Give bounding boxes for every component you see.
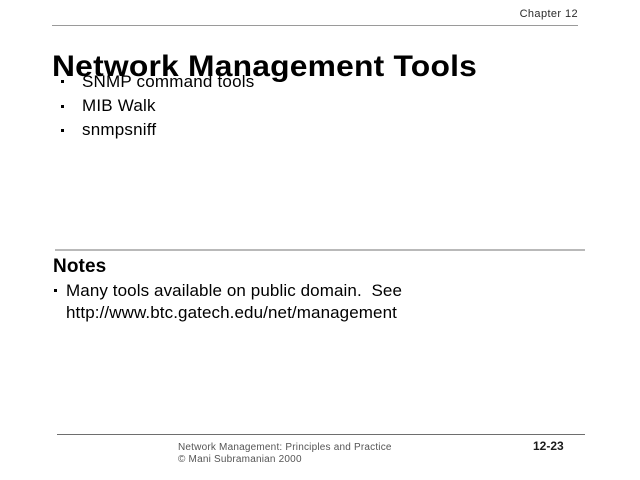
slide-canvas: Chapter 12 Network Management Tools SNMP… [0,0,640,480]
list-item-label: MIB Walk [82,96,156,115]
notes-heading: Notes [53,256,106,278]
notes-divider [55,249,585,251]
list-item-label: snmpsniff [82,120,156,139]
bullet-dot-icon [61,129,64,132]
slide-number: 12-23 [533,439,564,453]
bullet-dot-icon [54,289,57,292]
chapter-label: Chapter 12 [400,8,578,20]
list-item: Many tools available on public domain. S… [54,280,574,324]
notes-item-url: http://www.btc.gatech.edu/net/management [66,302,574,324]
bullet-dot-icon [61,80,64,83]
footer-credit-line-1: Network Management: Principles and Pract… [178,442,392,454]
footer-divider [57,434,585,435]
footer-credit: Network Management: Principles and Pract… [178,442,392,465]
list-item: MIB Walk [58,94,578,118]
header-divider [52,25,578,26]
list-item: snmpsniff [58,118,578,142]
bullet-dot-icon [61,105,64,108]
footer-credit-line-2: © Mani Subramanian 2000 [178,454,392,466]
list-item: SNMP command tools [58,70,578,94]
notes-list: Many tools available on public domain. S… [54,280,574,324]
main-bullet-list: SNMP command tools MIB Walk snmpsniff [58,70,578,142]
list-item-label: SNMP command tools [82,72,254,91]
notes-item-line-1: Many tools available on public domain. S… [66,280,574,302]
